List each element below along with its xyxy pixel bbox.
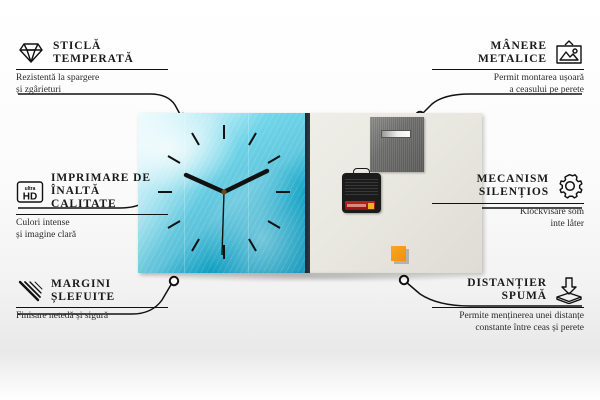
feature-foam-spacer: DISTANȚIER SPUMĂ Permite menținerea unei… xyxy=(432,276,584,334)
gear-icon xyxy=(556,172,584,200)
feature-header: MECANISM SILENȚIOS xyxy=(432,172,584,200)
feature-header: ultra HD IMPRIMARE DE ÎNALTĂ CALITATE xyxy=(16,172,168,211)
connector-metal-hooks xyxy=(422,94,582,114)
ultra-hd-icon-large-label: HD xyxy=(23,191,37,202)
feature-header: MARGINI ȘLEFUITE xyxy=(16,278,168,304)
battery xyxy=(345,201,375,210)
feature-subtitle: Permit montarea ușoară a ceasului pe per… xyxy=(432,73,584,96)
tick-11 xyxy=(192,133,199,145)
feature-subtitle: Finisare netedă și sigură xyxy=(16,311,168,323)
infographic-canvas: STICLĂ TEMPERATĂ Rezistentă la spargere … xyxy=(0,0,600,400)
feature-header: STICLĂ TEMPERATĂ xyxy=(16,40,168,66)
metal-hanger-plate xyxy=(370,117,424,172)
tick-10 xyxy=(168,156,180,163)
polished-edges-icon xyxy=(16,279,44,303)
feature-subtitle: Permite menținerea unei distanțe constan… xyxy=(432,311,584,334)
tick-2 xyxy=(268,156,280,163)
feature-header: MÂNERE METALICE xyxy=(432,40,584,66)
feature-silent-mechanism: MECANISM SILENȚIOS Klockvisare som inte … xyxy=(432,172,584,230)
battery-plus-terminal xyxy=(368,203,374,209)
foam-spacer-icon xyxy=(554,276,584,304)
feature-metal-hooks: MÂNERE METALICE Permit montarea ușoară a… xyxy=(432,40,584,96)
hour-hand xyxy=(186,175,224,192)
minute-hand xyxy=(224,171,267,192)
feature-subtitle: Klockvisare som inte låter xyxy=(432,207,584,230)
feature-title: IMPRIMARE DE ÎNALTĂ CALITATE xyxy=(51,172,168,211)
feature-header: DISTANȚIER SPUMĂ xyxy=(432,276,584,304)
mechanism-hanger-loop xyxy=(353,168,370,176)
wall-frame-hook-icon xyxy=(554,40,584,66)
tick-4 xyxy=(268,221,280,228)
feature-title: STICLĂ TEMPERATĂ xyxy=(53,40,134,66)
product-image xyxy=(138,113,482,276)
tick-7 xyxy=(192,239,199,251)
feature-tempered-glass: STICLĂ TEMPERATĂ Rezistentă la spargere … xyxy=(16,40,168,96)
foam-spacer-pad xyxy=(391,246,406,261)
feature-title: MECANISM SILENȚIOS xyxy=(477,173,549,199)
feature-title: MÂNERE METALICE xyxy=(478,40,547,66)
feature-divider xyxy=(16,307,168,308)
feature-divider xyxy=(432,307,584,308)
feature-divider xyxy=(432,69,584,70)
diamond-icon xyxy=(16,41,46,65)
feature-divider xyxy=(16,214,168,215)
ultra-hd-icon: ultra HD xyxy=(16,180,44,204)
feature-hd-print: ultra HD IMPRIMARE DE ÎNALTĂ CALITATE Cu… xyxy=(16,172,168,241)
feature-title: DISTANȚIER SPUMĂ xyxy=(467,277,547,303)
feature-subtitle: Rezistentă la spargere și zgârieturi xyxy=(16,73,168,96)
battery-label-stripe xyxy=(347,204,366,207)
mechanism-label-panel xyxy=(345,177,378,195)
tick-1 xyxy=(249,133,256,145)
product-drop-shadow xyxy=(150,272,480,282)
feature-polished-edges: MARGINI ȘLEFUITE Finisare netedă și sigu… xyxy=(16,278,168,323)
clock-mechanism-box xyxy=(342,173,381,213)
tick-5 xyxy=(249,239,256,251)
hands-center-cap xyxy=(221,189,226,194)
feature-divider xyxy=(432,203,584,204)
plate-hanger-slot xyxy=(381,130,411,138)
feature-subtitle: Culori intense și imagine clară xyxy=(16,218,168,241)
plate-brushed-texture xyxy=(370,117,424,172)
tick-8 xyxy=(168,221,180,228)
feature-divider xyxy=(16,69,168,70)
feature-title: MARGINI ȘLEFUITE xyxy=(51,278,115,304)
